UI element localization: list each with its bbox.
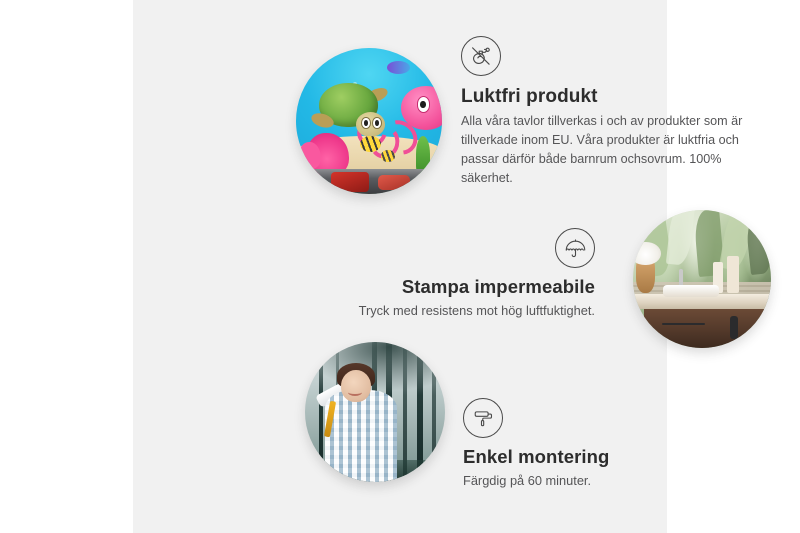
- feature-description: Färgdig på 60 minuter.: [463, 471, 743, 490]
- woman-face: [341, 370, 370, 402]
- white-flowers: [633, 242, 661, 265]
- forest-canopy: [305, 342, 445, 390]
- no-fragrance-spray-bottle-icon: [461, 36, 501, 76]
- bathroom-leaf-wallpaper-photo: [633, 210, 771, 348]
- yellow-fish-icon: [360, 136, 380, 152]
- icon-row: [303, 228, 595, 268]
- octopus-eye: [417, 96, 431, 113]
- sink-basin: [663, 285, 718, 297]
- feature-easy-mounting: Enkel montering Färgdig på 60 minuter.: [463, 398, 743, 491]
- room-furniture-strip: [296, 169, 442, 194]
- yellow-fish-icon: [381, 150, 396, 162]
- woman-smile: [348, 388, 362, 396]
- feature-odourless: Luktfri produkt Alla våra tavlor tillver…: [461, 36, 761, 188]
- woman-plaid-shirt: [325, 390, 398, 482]
- turtle-eye: [361, 117, 371, 130]
- umbrella-icon: [555, 228, 595, 268]
- feature-title: Stampa impermeabile: [303, 275, 595, 298]
- turtle-eye: [372, 117, 382, 130]
- feature-title: Luktfri produkt: [461, 85, 761, 109]
- feature-title: Enkel montering: [463, 445, 743, 468]
- seaweed-icon: [416, 136, 431, 174]
- wood-vanity-cabinet: [644, 309, 771, 348]
- woman-with-paint-roller-forest-photo: [305, 342, 445, 482]
- bathroom-artwork: [633, 210, 771, 348]
- content-panel: Luktfri produkt Alla våra tavlor tillver…: [133, 0, 667, 533]
- forest-artwork: [305, 342, 445, 482]
- underwater-artwork: [296, 48, 442, 194]
- underwater-cartoon-scene-photo: [296, 48, 442, 194]
- feature-description: Alla våra tavlor tillverkas i och av pro…: [461, 112, 761, 189]
- feature-waterproof: Stampa impermeabile Tryck med resistens …: [303, 228, 595, 321]
- paint-roller-icon: [463, 398, 503, 438]
- promo-graphic: Luktfri produkt Alla våra tavlor tillver…: [0, 0, 800, 533]
- feature-description: Tryck med resistens mot hög luftfuktighe…: [303, 301, 595, 320]
- toiletry-bottle: [727, 256, 739, 293]
